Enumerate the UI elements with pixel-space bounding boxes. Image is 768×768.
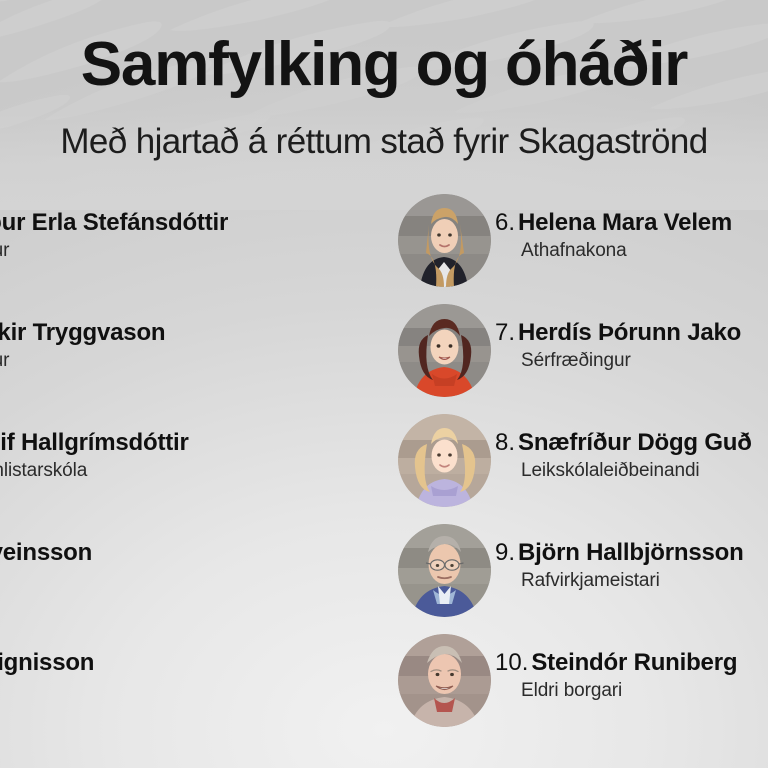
candidate-entry: 10.Steindór Runiberg Eldri borgari bbox=[495, 648, 768, 704]
candidate-row[interactable]: 7.Herdís Þórunn Jako Sérfræðingur bbox=[385, 296, 768, 406]
candidate-role: ómaður bbox=[0, 568, 368, 594]
candidate-name-line: 7.Herdís Þórunn Jako bbox=[495, 318, 768, 348]
candidate-entry: ugrún Sif Hallgrímsdóttir ólastjóri tónl… bbox=[0, 428, 368, 484]
candidate-name: Steindór Runiberg bbox=[531, 649, 737, 676]
candidate-role: niður bbox=[0, 678, 368, 704]
candidate-row[interactable]: avíð Birkir Tryggvason ögfræðingur bbox=[0, 296, 368, 406]
candidate-entry: 6.Helena Mara Velem Athafnakona bbox=[495, 208, 768, 264]
candidate-photo bbox=[398, 414, 491, 507]
candidate-entry: 7.Herdís Þórunn Jako Sérfræðingur bbox=[495, 318, 768, 374]
page-title: Samfylking og óháðir bbox=[0, 34, 768, 96]
candidate-entry: tefán Sveinsson ómaður bbox=[0, 538, 368, 594]
candidate-name-line: avíð Birkir Tryggvason bbox=[0, 318, 368, 348]
candidate-role: Rafvirkjameistari bbox=[495, 568, 768, 594]
candidate-role: Athafnakona bbox=[495, 238, 768, 264]
candidate-role: ögfræðingur bbox=[0, 238, 368, 264]
candidate-name-line: gimar Vignisson bbox=[0, 648, 368, 678]
candidate-name: Björn Hallbjörnsson bbox=[518, 539, 744, 566]
candidate-name-line: 9.Björn Hallbjörnsson bbox=[495, 538, 768, 568]
candidate-number: 8. bbox=[495, 429, 515, 456]
candidate-name-line: 8.Snæfríður Dögg Guð bbox=[495, 428, 768, 458]
candidate-name-line: tefán Sveinsson bbox=[0, 538, 368, 568]
candidate-name: ugrún Sif Hallgrímsdóttir bbox=[0, 429, 189, 456]
candidate-role: Eldri borgari bbox=[495, 678, 768, 704]
candidate-name-line: 6.Helena Mara Velem bbox=[495, 208, 768, 238]
campaign-poster: Samfylking og óháðir Með hjartað á réttu… bbox=[0, 0, 768, 768]
candidate-name-line: agnheiður Erla Stefánsdóttir bbox=[0, 208, 368, 238]
candidate-number: 6. bbox=[495, 209, 515, 236]
candidate-role: Sérfræðingur bbox=[495, 348, 768, 374]
candidate-name: Snæfríður Dögg Guð bbox=[518, 429, 752, 456]
candidate-row[interactable]: agnheiður Erla Stefánsdóttir ögfræðingur bbox=[0, 186, 368, 296]
candidate-role: Leikskólaleiðbeinandi bbox=[495, 458, 768, 484]
candidate-photo bbox=[398, 194, 491, 287]
candidate-entry: gimar Vignisson niður bbox=[0, 648, 368, 704]
candidate-name: Helena Mara Velem bbox=[518, 209, 732, 236]
candidate-column-left: agnheiður Erla Stefánsdóttir ögfræðingur… bbox=[0, 186, 368, 736]
candidate-name-line: ugrún Sif Hallgrímsdóttir bbox=[0, 428, 368, 458]
candidate-number: 7. bbox=[495, 319, 515, 346]
candidate-row[interactable]: 6.Helena Mara Velem Athafnakona bbox=[385, 186, 768, 296]
page-subtitle: Með hjartað á réttum stað fyrir Skagastr… bbox=[0, 124, 768, 159]
candidate-name: agnheiður Erla Stefánsdóttir bbox=[0, 209, 228, 236]
candidate-row[interactable]: tefán Sveinsson ómaður bbox=[0, 516, 368, 626]
candidate-row[interactable]: gimar Vignisson niður bbox=[0, 626, 368, 736]
candidate-row[interactable]: 10.Steindór Runiberg Eldri borgari bbox=[385, 626, 768, 736]
candidate-entry: avíð Birkir Tryggvason ögfræðingur bbox=[0, 318, 368, 374]
candidate-role: ólastjóri tónlistarskóla bbox=[0, 458, 368, 484]
candidate-number: 10. bbox=[495, 649, 528, 676]
candidate-entry: 9.Björn Hallbjörnsson Rafvirkjameistari bbox=[495, 538, 768, 594]
candidate-row[interactable]: 8.Snæfríður Dögg Guð Leikskólaleiðbeinan… bbox=[385, 406, 768, 516]
candidate-photo bbox=[398, 524, 491, 617]
candidate-column-right: 6.Helena Mara Velem Athafnakona bbox=[385, 186, 768, 736]
candidate-row[interactable]: 9.Björn Hallbjörnsson Rafvirkjameistari bbox=[385, 516, 768, 626]
candidate-name: tefán Sveinsson bbox=[0, 539, 92, 566]
candidate-name: gimar Vignisson bbox=[0, 649, 94, 676]
candidate-entry: agnheiður Erla Stefánsdóttir ögfræðingur bbox=[0, 208, 368, 264]
candidate-name-line: 10.Steindór Runiberg bbox=[495, 648, 768, 678]
candidate-number: 9. bbox=[495, 539, 515, 566]
candidate-name: Herdís Þórunn Jako bbox=[518, 319, 741, 346]
candidate-role: ögfræðingur bbox=[0, 348, 368, 374]
candidate-photo bbox=[398, 304, 491, 397]
candidate-photo bbox=[398, 634, 491, 727]
candidate-row[interactable]: ugrún Sif Hallgrímsdóttir ólastjóri tónl… bbox=[0, 406, 368, 516]
candidate-name: avíð Birkir Tryggvason bbox=[0, 319, 165, 346]
candidate-entry: 8.Snæfríður Dögg Guð Leikskólaleiðbeinan… bbox=[495, 428, 768, 484]
